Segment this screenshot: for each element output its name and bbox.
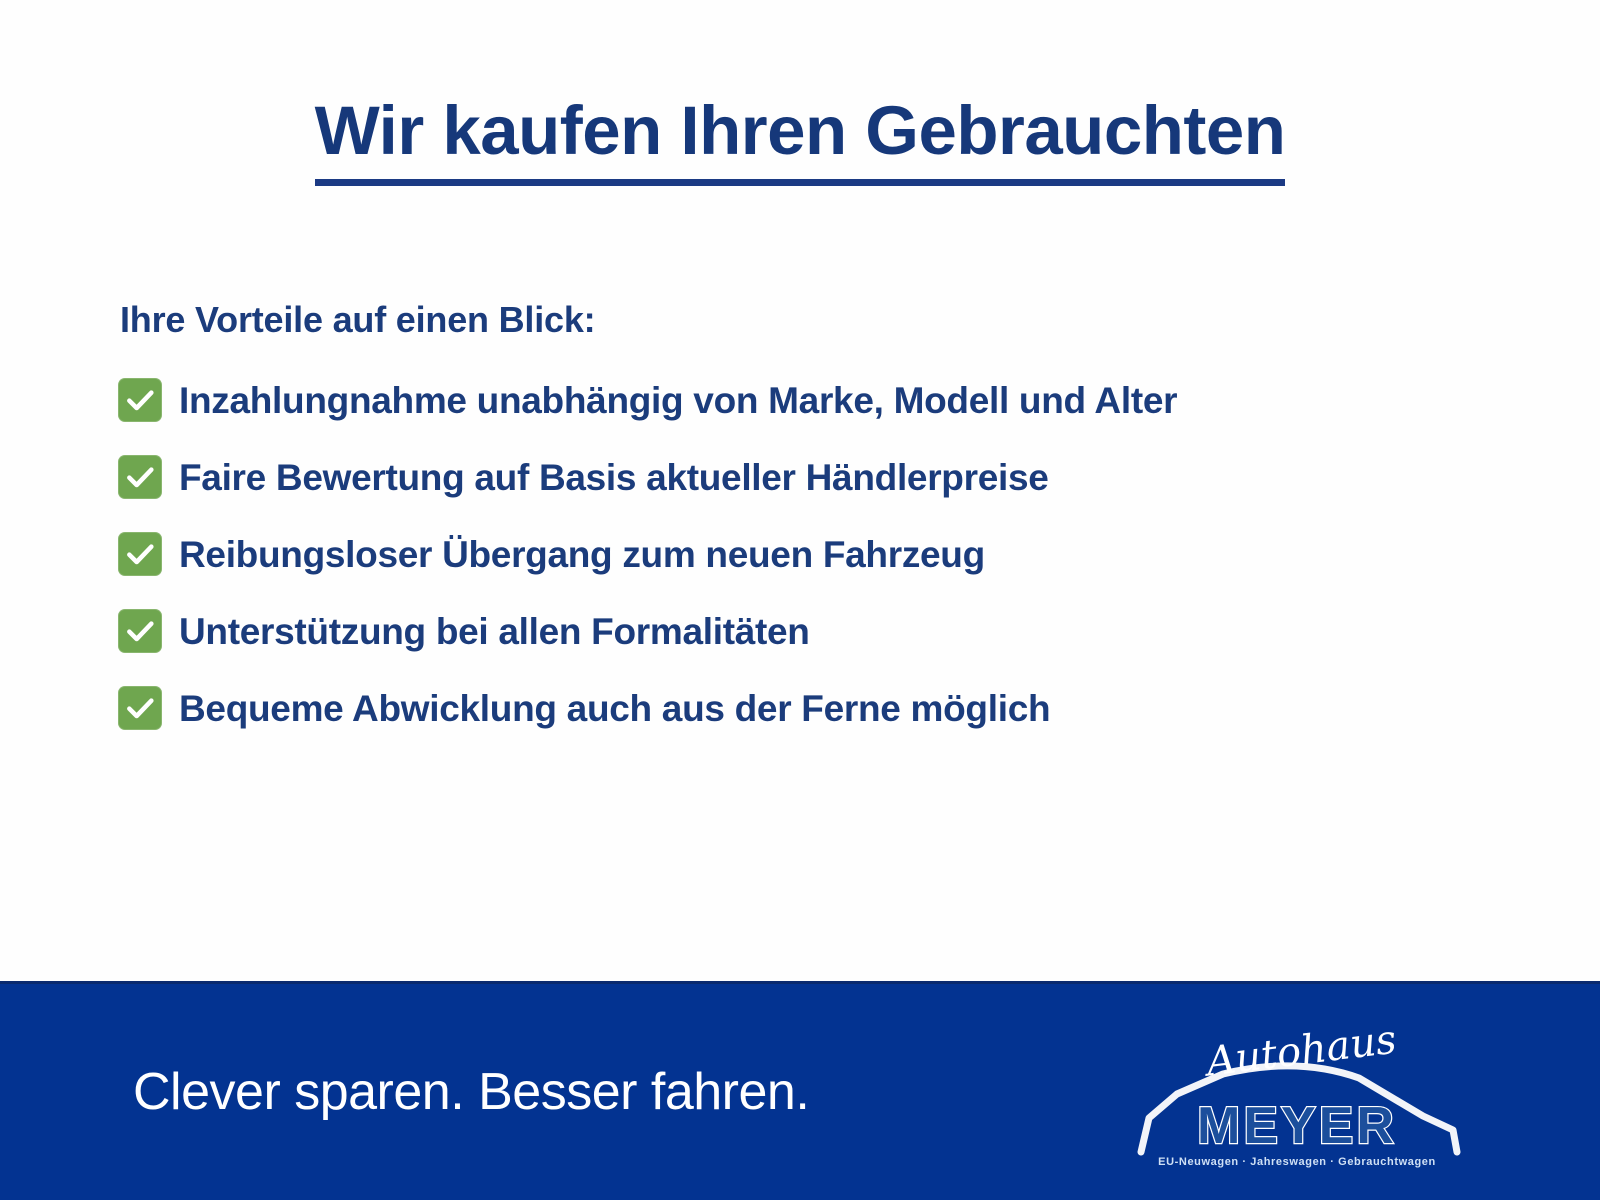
page-title: Wir kaufen Ihren Gebrauchten xyxy=(315,96,1286,186)
check-square-icon xyxy=(118,455,162,499)
check-square-icon xyxy=(118,378,162,422)
check-square-icon xyxy=(118,532,162,576)
list-item: Inzahlungnahme unabhängig von Marke, Mod… xyxy=(118,374,1177,426)
car-silhouette-icon: Autohaus MEYER xyxy=(1127,1012,1467,1172)
benefits-subtitle: Ihre Vorteile auf einen Blick: xyxy=(120,299,595,341)
footer-bar: Clever sparen. Besser fahren. Autohaus M… xyxy=(0,981,1600,1200)
logo-script-text: Autohaus xyxy=(1200,1016,1399,1085)
logo-tagline: EU-Neuwagen · Jahreswagen · Gebrauchtwag… xyxy=(1127,1156,1467,1168)
benefits-list: Inzahlungnahme unabhängig von Marke, Mod… xyxy=(118,374,1177,759)
list-item: Reibungsloser Übergang zum neuen Fahrzeu… xyxy=(118,528,1177,580)
advertisement-page: Wir kaufen Ihren Gebrauchten Ihre Vortei… xyxy=(0,0,1600,1200)
list-item: Unterstützung bei allen Formalitäten xyxy=(118,605,1177,657)
list-item: Bequeme Abwicklung auch aus der Ferne mö… xyxy=(118,682,1177,734)
headline-container: Wir kaufen Ihren Gebrauchten xyxy=(0,96,1600,186)
check-square-icon xyxy=(118,686,162,730)
benefit-label: Reibungsloser Übergang zum neuen Fahrzeu… xyxy=(179,536,985,573)
footer-slogan: Clever sparen. Besser fahren. xyxy=(133,1062,809,1122)
benefit-label: Bequeme Abwicklung auch aus der Ferne mö… xyxy=(179,690,1050,727)
list-item: Faire Bewertung auf Basis aktueller Händ… xyxy=(118,451,1177,503)
logo-name-text: MEYER xyxy=(1197,1097,1397,1155)
benefit-label: Inzahlungnahme unabhängig von Marke, Mod… xyxy=(179,382,1177,419)
dealer-logo: Autohaus MEYER EU-Neuwagen · Jahreswagen… xyxy=(1127,1012,1467,1172)
check-square-icon xyxy=(118,609,162,653)
benefit-label: Unterstützung bei allen Formalitäten xyxy=(179,613,810,650)
content-area: Wir kaufen Ihren Gebrauchten Ihre Vortei… xyxy=(0,0,1600,981)
benefit-label: Faire Bewertung auf Basis aktueller Händ… xyxy=(179,459,1049,496)
